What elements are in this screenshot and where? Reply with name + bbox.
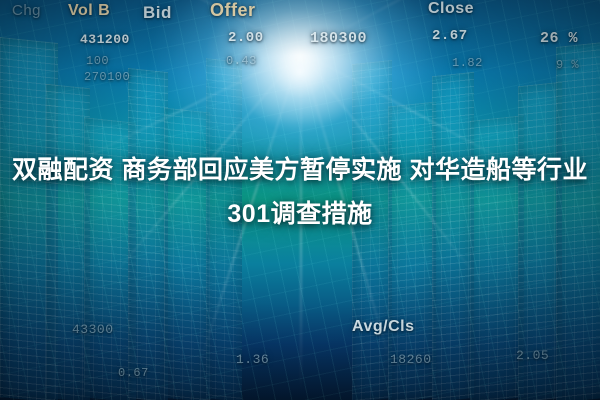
headline-text: 双融配资 商务部回应美方暂停实施 对华造船等行业 301调查措施 bbox=[0, 148, 600, 236]
article-hero-image: ChgVol BBidOfferClose4312002.001803002.6… bbox=[0, 0, 600, 400]
headline-line-1: 双融配资 商务部回应美方暂停实施 对华造船等行业 bbox=[12, 156, 588, 184]
headline-line-2: 301调查措施 bbox=[6, 192, 594, 236]
